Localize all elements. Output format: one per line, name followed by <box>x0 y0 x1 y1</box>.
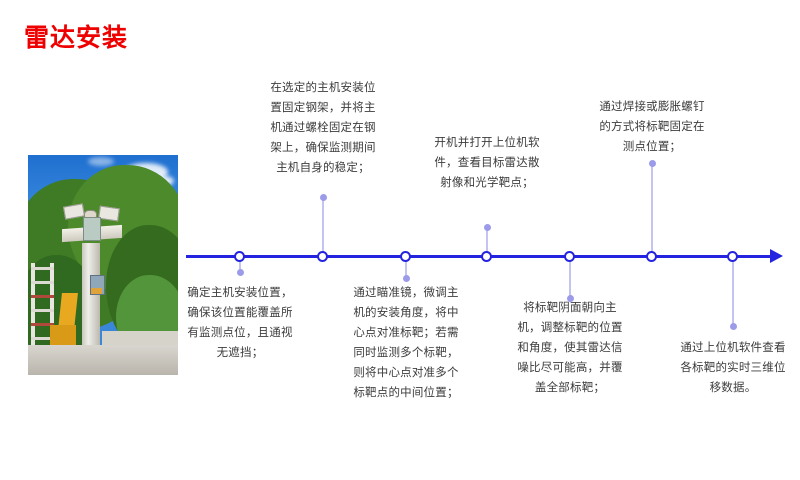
timeline-node-7[interactable] <box>727 251 738 262</box>
radar-antenna-panel <box>98 206 120 222</box>
cloud-shape <box>88 157 114 166</box>
timeline-arrow-icon <box>770 249 783 263</box>
timeline-node-1[interactable] <box>234 251 245 262</box>
timeline-node-6[interactable] <box>646 251 657 262</box>
timeline-connector-dot-7 <box>730 323 737 330</box>
timeline-connector-dot-1 <box>237 269 244 276</box>
timeline-connector-dot-2 <box>320 194 327 201</box>
timeline-connector-7 <box>732 256 734 326</box>
timeline-step-text-2: 在选定的主机安装位置固定钢架，并将主机通过螺栓固定在钢架上，确保监测期间主机自身… <box>265 78 381 178</box>
timeline-node-5[interactable] <box>564 251 575 262</box>
timeline-connector-2 <box>322 198 324 256</box>
junction-box-label <box>91 288 102 294</box>
timeline-step-text-5: 将标靶阴面朝向主机，调整标靶的位置和角度，使其雷达信噪比尽可能高，并覆盖全部标靶… <box>512 298 628 398</box>
timeline-connector-5 <box>569 256 571 298</box>
slide-canvas: 雷达安装 <box>0 0 800 480</box>
timeline-connector-dot-3 <box>403 275 410 282</box>
radar-installation-photo <box>28 155 178 375</box>
timeline-step-text-7: 通过上位机软件查看各标靶的实时三维位移数据。 <box>675 338 791 398</box>
timeline-node-4[interactable] <box>481 251 492 262</box>
timeline-connector-dot-4 <box>484 224 491 231</box>
timeline-node-2[interactable] <box>317 251 328 262</box>
timeline-connector-6 <box>651 164 653 256</box>
timeline-node-3[interactable] <box>400 251 411 262</box>
timeline-step-text-3: 通过瞄准镜，微调主机的安装角度，将中心点对准标靶；若需同时监测多个标靶，则将中心… <box>348 283 464 403</box>
timeline-step-text-4: 开机并打开上位机软件，查看目标雷达散射像和光学靶点； <box>429 133 545 193</box>
radar-control-box <box>83 217 101 241</box>
timeline-step-text-6: 通过焊接或膨胀螺钉的方式将标靶固定在测点位置； <box>594 97 710 157</box>
page-title: 雷达安装 <box>24 25 128 53</box>
timeline-connector-dot-6 <box>649 160 656 167</box>
timeline-step-text-1: 确定主机安装位置，确保该位置能覆盖所有监测点位，且通视无遮挡； <box>182 283 298 363</box>
timeline-connector-dot-5 <box>567 295 574 302</box>
ground-surface <box>28 345 178 375</box>
